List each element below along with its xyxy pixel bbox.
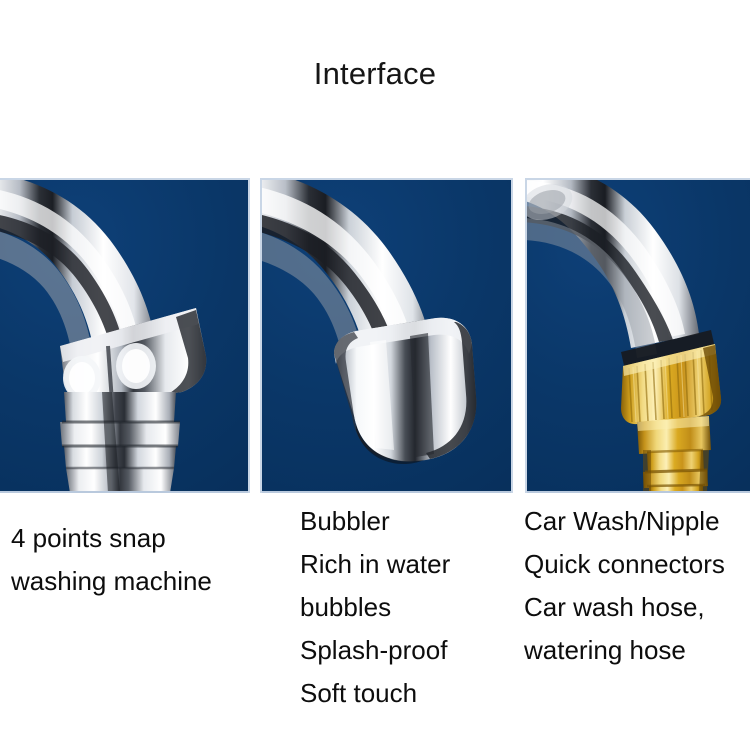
panel-left-border	[260, 178, 262, 493]
caption-line: Soft touch	[300, 672, 450, 715]
caption-snap: 4 points snap washing machine	[11, 517, 212, 603]
product-interface-infographic: Interface	[0, 0, 750, 750]
panel-top-border	[525, 178, 750, 180]
product-image-panel-nipple	[525, 178, 750, 493]
panel-bottom-border	[525, 491, 750, 493]
caption-line: Quick connectors	[524, 543, 725, 586]
panel-right-border	[511, 178, 513, 493]
panel-bottom-border	[260, 491, 513, 493]
caption-line: watering hose	[524, 629, 725, 672]
faucet-brass-quick-connector-illustration	[525, 178, 750, 493]
caption-line: Splash-proof	[300, 629, 450, 672]
page-title: Interface	[0, 56, 750, 92]
product-image-panel-bubbler	[260, 178, 513, 493]
caption-line: Car Wash/Nipple	[524, 500, 725, 543]
caption-line: Rich in water	[300, 543, 450, 586]
caption-line: Bubbler	[300, 500, 450, 543]
caption-line: bubbles	[300, 586, 450, 629]
caption-line: washing machine	[11, 560, 212, 603]
caption-line: 4 points snap	[11, 517, 212, 560]
panel-top-border	[0, 178, 250, 180]
panel-right-border	[248, 178, 250, 493]
panel-bottom-border	[0, 491, 250, 493]
faucet-bubbler-illustration	[260, 178, 513, 493]
faucet-snap-connector-illustration	[0, 178, 250, 493]
panel-top-border	[260, 178, 513, 180]
panel-left-border	[525, 178, 527, 493]
caption-bubbler: Bubbler Rich in water bubbles Splash-pro…	[300, 500, 450, 715]
product-image-row	[0, 178, 750, 493]
product-image-panel-snap	[0, 178, 250, 493]
caption-nipple: Car Wash/Nipple Quick connectors Car was…	[524, 500, 725, 672]
caption-line: Car wash hose,	[524, 586, 725, 629]
